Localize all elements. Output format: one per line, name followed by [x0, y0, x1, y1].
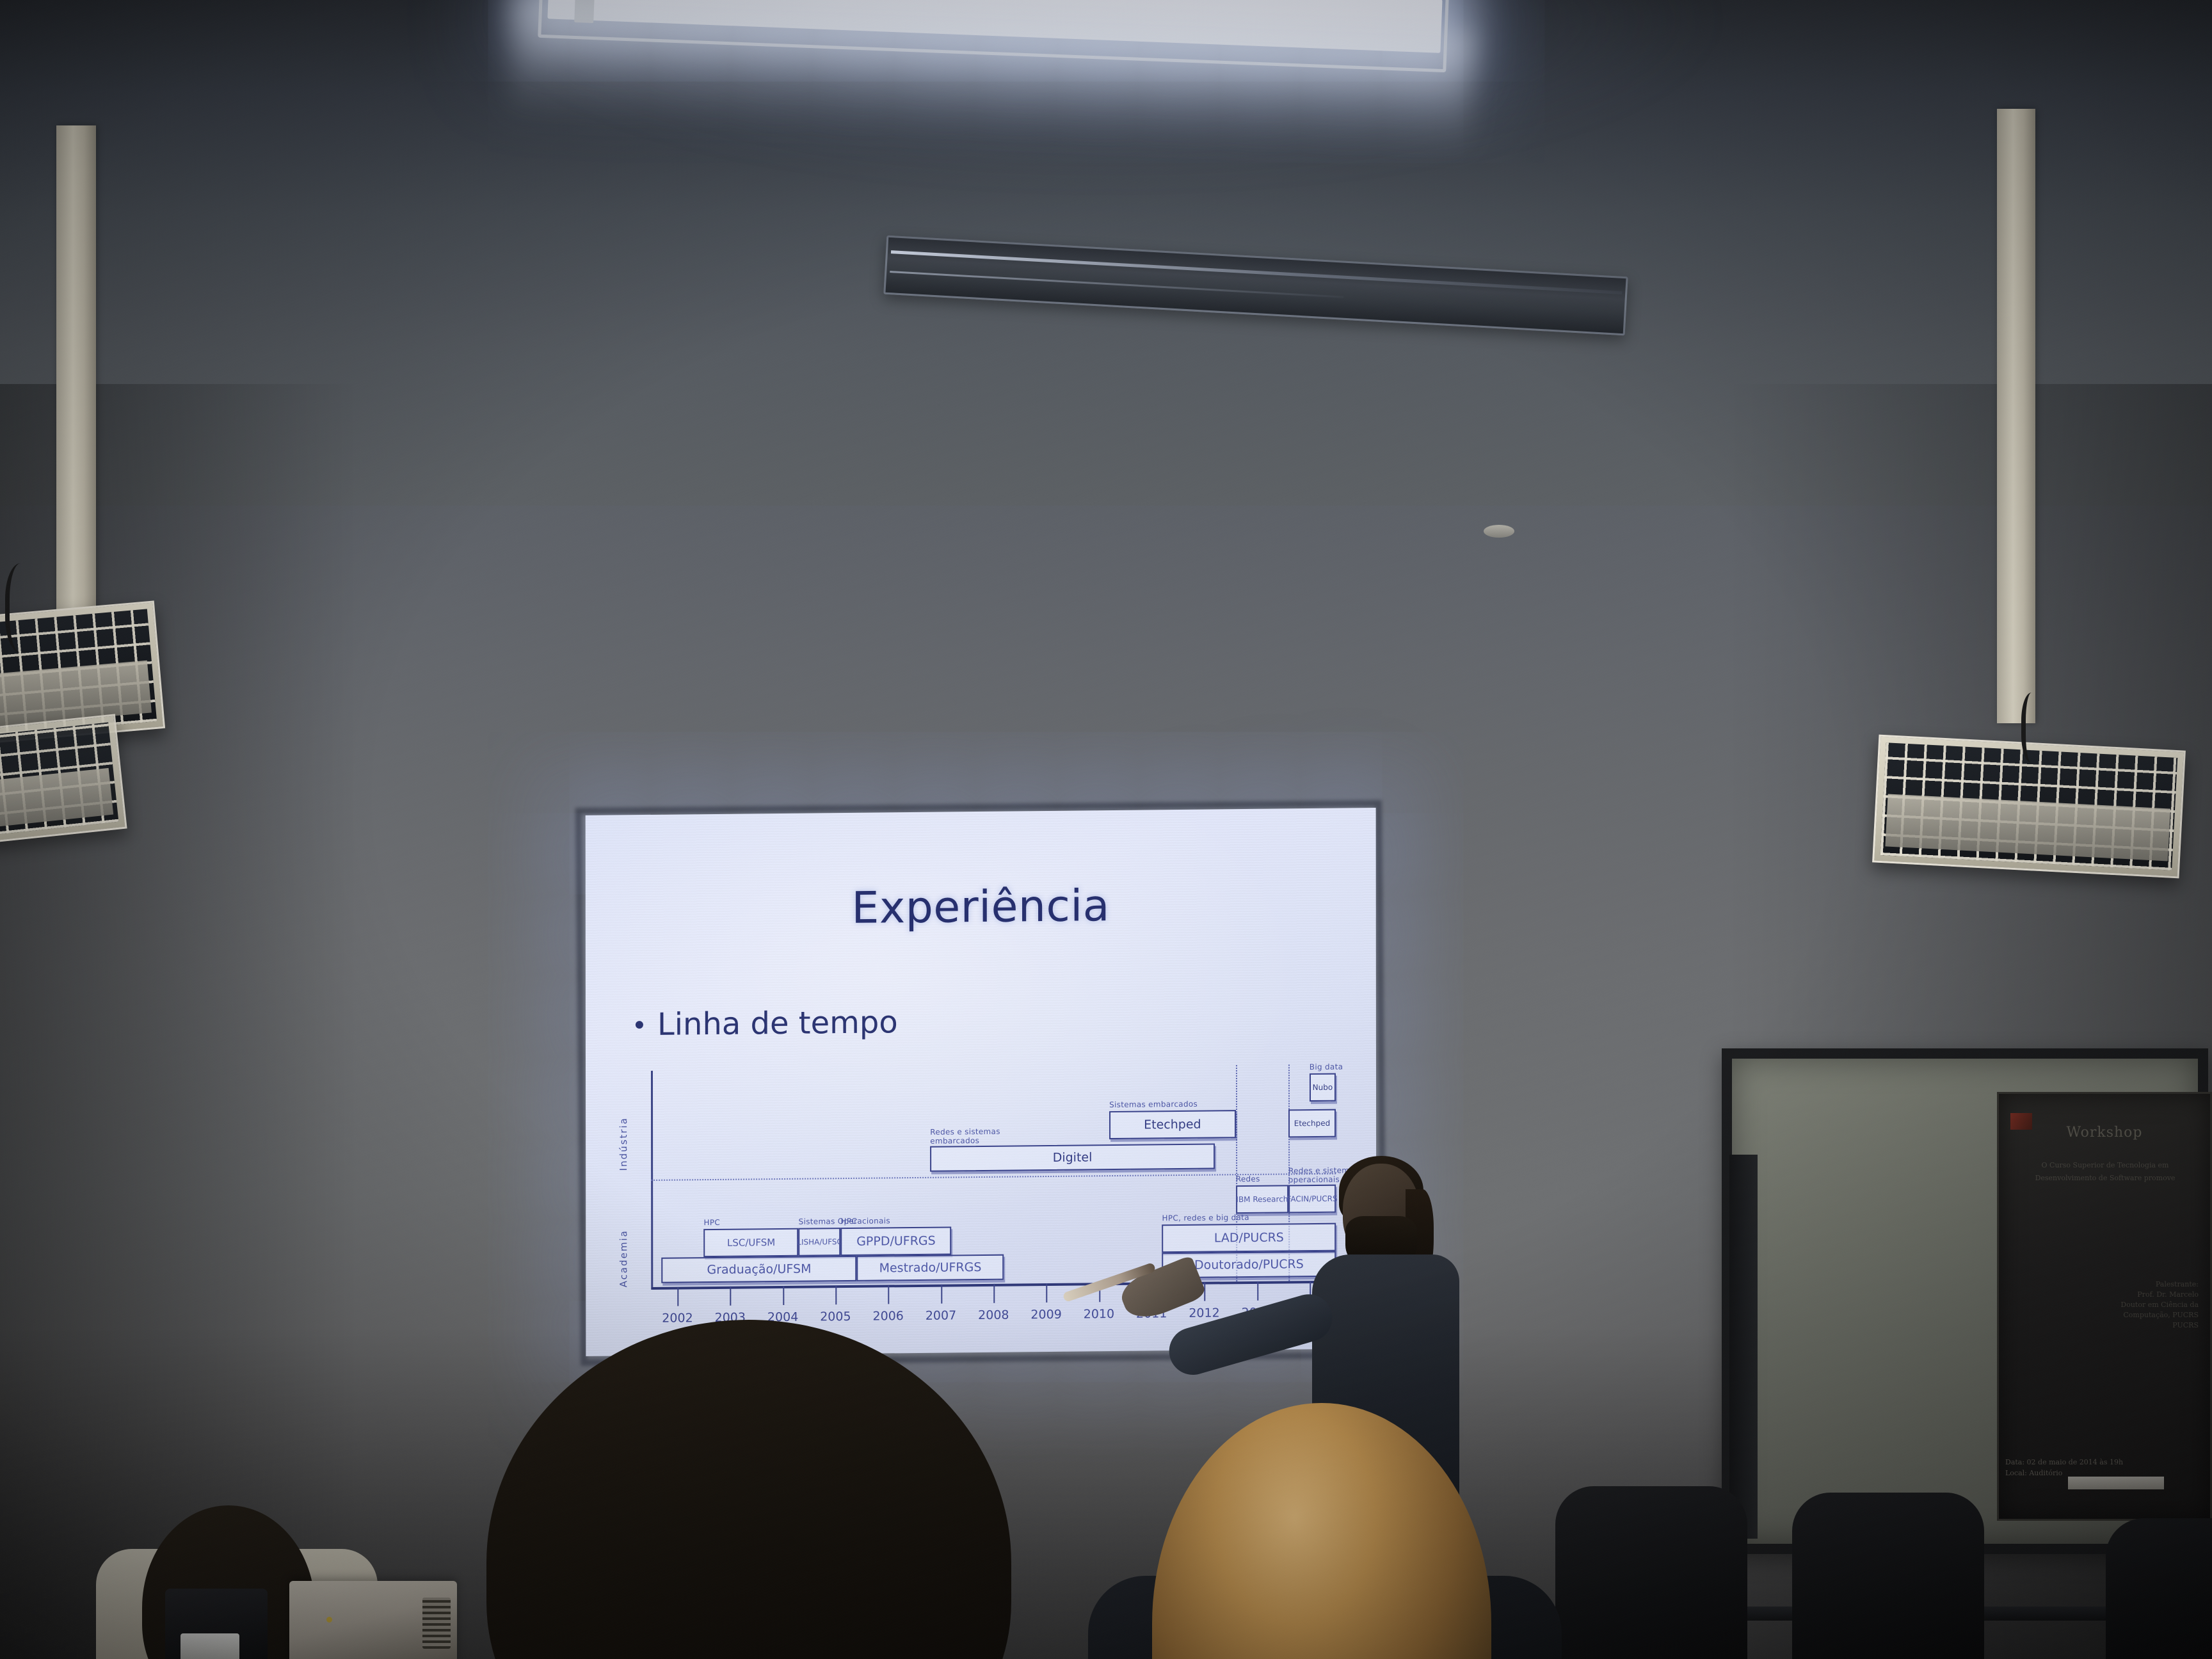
chair-3	[2106, 1518, 2212, 1659]
chart-ticks	[651, 1281, 1336, 1309]
equipment-white-panel	[180, 1633, 239, 1659]
timeline-box: Graduação/UFSM	[662, 1256, 857, 1283]
timeline-caption: Redes e sistemas embarcados	[930, 1128, 1013, 1146]
poster-line-2: Desenvolvimento de Software promove	[2007, 1173, 2204, 1183]
projector-cable-right	[2021, 693, 2047, 763]
chart-tick	[730, 1286, 732, 1306]
timeline-caption: Redes	[1236, 1174, 1260, 1183]
projector-mount-arm-left	[56, 125, 96, 625]
chart-tick	[888, 1285, 890, 1304]
chart-tick	[783, 1286, 784, 1305]
chart-year-label: 2008	[978, 1308, 1009, 1322]
event-poster: Workshop O Curso Superior de Tecnologia …	[1997, 1092, 2212, 1521]
bullet-dot-icon	[636, 1021, 643, 1029]
chart-year-label: 2006	[873, 1309, 904, 1323]
slide-content: Experiência Linha de tempo Indústria Aca…	[586, 808, 1377, 1356]
poster-line-1: O Curso Superior de Tecnologia em	[2007, 1160, 2204, 1171]
chart-tick	[1257, 1281, 1258, 1301]
timeline-items-layer: NuboBig dataEtechpedSistemas embarcadosE…	[623, 1064, 1340, 1071]
timeline-box: LISHA/UFSC	[799, 1228, 841, 1256]
poster-heading: Workshop	[1999, 1125, 2210, 1141]
chart-tick	[835, 1285, 837, 1304]
timeline-chart: Indústria Academia NuboBig dataEtechpedS…	[623, 1064, 1340, 1327]
lane-label-industria: Indústria	[618, 1080, 629, 1171]
lane-divider	[651, 1173, 1336, 1181]
chart-year-label: 2009	[1030, 1308, 1061, 1322]
timeline-caption: Sistemas embarcados	[1109, 1100, 1198, 1109]
ceiling-smoke-detector-icon	[1484, 525, 1514, 538]
timeline-box: IBM Research	[1236, 1185, 1288, 1214]
chart-year-label: 2002	[662, 1311, 693, 1325]
timeline-box: LSC/UFSM	[704, 1228, 799, 1257]
poster-speaker-block: Palestrante: Prof. Dr. Marcelo Doutor em…	[2019, 1279, 2199, 1331]
timeline-caption: HPC	[703, 1218, 720, 1227]
lane-label-academia: Academia	[618, 1196, 629, 1287]
poster-date: Data: 02 de maio de 2014 às 19h	[2005, 1457, 2204, 1468]
timeline-box: Etechped	[1109, 1110, 1236, 1139]
fluorescent-fixture-lit-icon	[538, 0, 1449, 72]
timeline-caption: HPC, redes e big data	[1162, 1213, 1249, 1222]
chart-year-label: 2012	[1189, 1306, 1219, 1320]
poster-footer: Data: 02 de maio de 2014 às 19h Local: A…	[2005, 1457, 2204, 1479]
projector-mount-arm-right	[1997, 109, 2035, 723]
slide-bullet-label: Linha de tempo	[657, 1004, 898, 1043]
slide-bullet: Linha de tempo	[636, 1004, 898, 1043]
chart-tick	[677, 1287, 678, 1306]
poster-highlight-strip	[2068, 1477, 2164, 1489]
chart-year-label: 2005	[820, 1310, 851, 1324]
timeline-box: Etechped	[1288, 1109, 1336, 1138]
chart-year-label: 2007	[926, 1308, 956, 1322]
projection-screen: Experiência Linha de tempo Indústria Aca…	[586, 808, 1377, 1356]
projector-cable-left	[5, 563, 44, 653]
chair-1	[1555, 1486, 1747, 1659]
chair-2	[1792, 1493, 1984, 1659]
equipment-vent	[422, 1598, 451, 1649]
timeline-caption: HPC	[840, 1217, 857, 1226]
timeline-caption: Big data	[1310, 1062, 1343, 1072]
chart-tick	[941, 1285, 942, 1304]
timeline-box: Mestrado/UFRGS	[856, 1254, 1004, 1281]
whiteboard-marker-tray	[1729, 1155, 1758, 1539]
projector-left-lower	[0, 714, 127, 847]
timeline-box: GPPD/UFRGS	[841, 1226, 952, 1256]
slide-title: Experiência	[586, 878, 1376, 936]
chart-tick	[993, 1284, 995, 1303]
chart-tick	[1046, 1283, 1048, 1302]
timeline-box: Digitel	[930, 1143, 1214, 1171]
chart-year-label: 2010	[1084, 1307, 1114, 1321]
timeline-box: Nubo	[1310, 1073, 1336, 1102]
lecture-hall-photo: Workshop O Curso Superior de Tecnologia …	[0, 0, 2212, 1659]
equipment-led-icon	[326, 1617, 332, 1623]
chart-tick	[1204, 1282, 1205, 1301]
equipment-projector-unit	[289, 1581, 457, 1659]
